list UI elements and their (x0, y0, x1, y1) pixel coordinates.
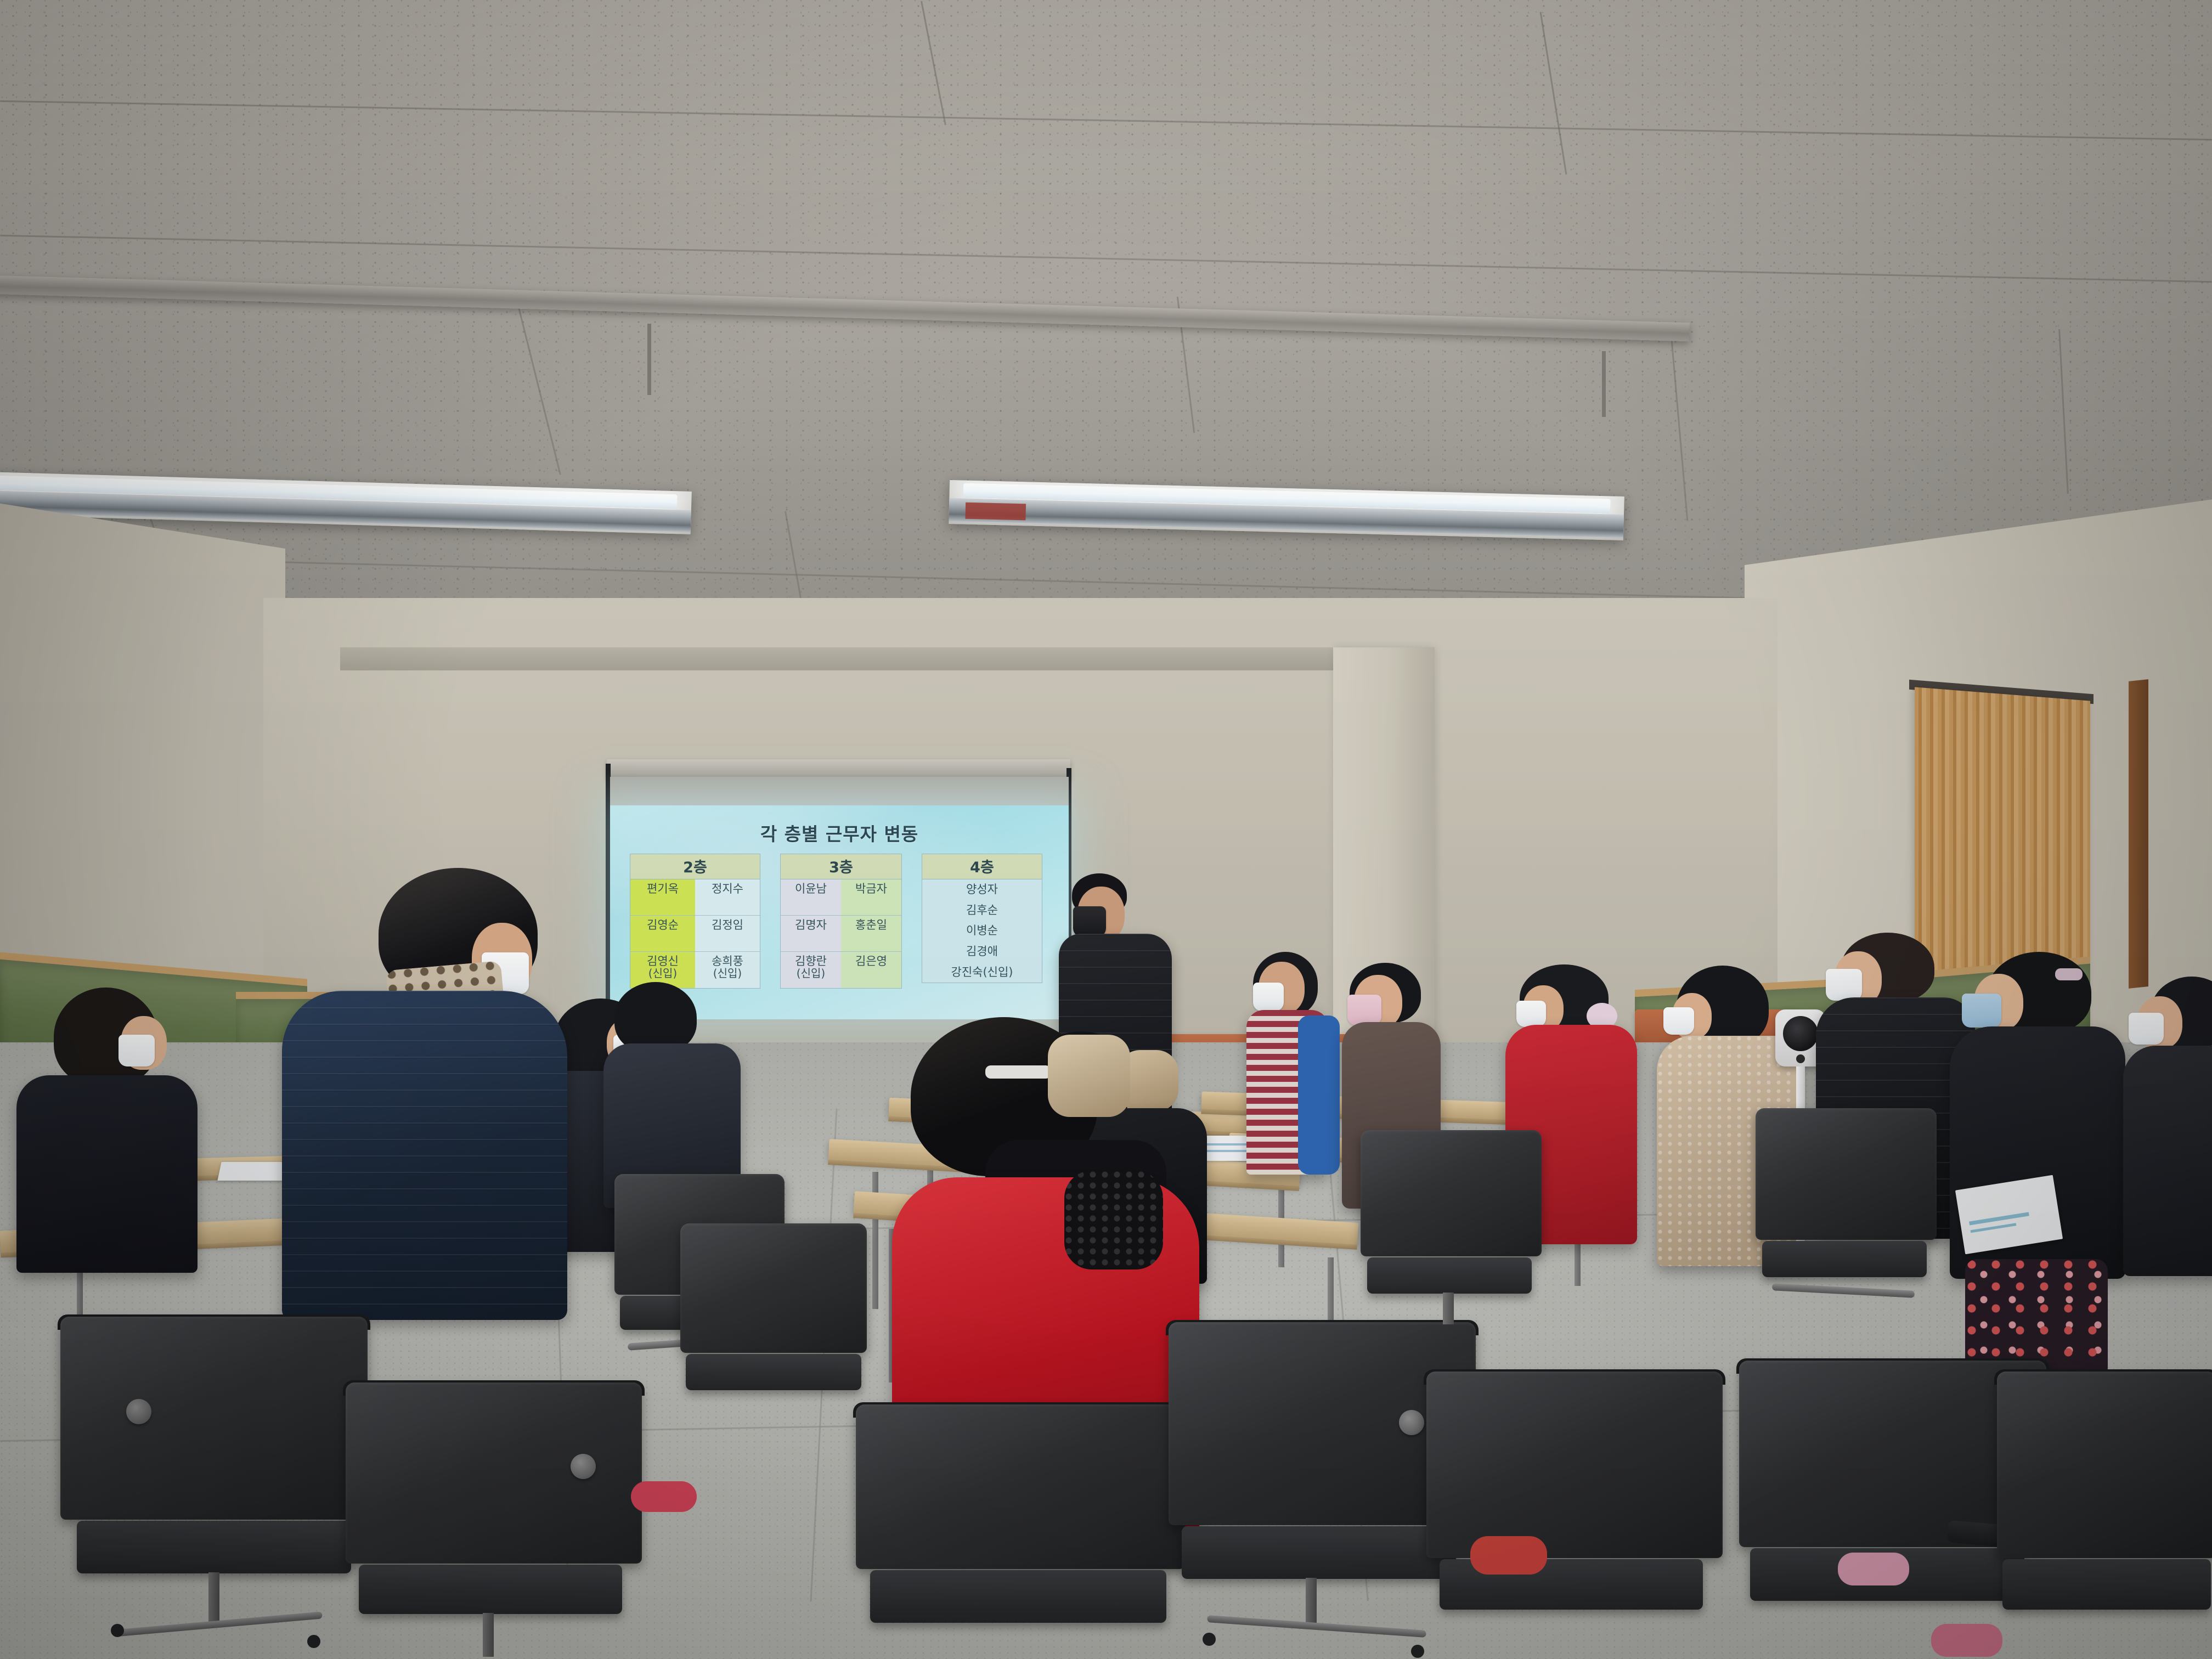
floor-table-subcolumn: 편기옥 김영순 김영신 (신입) (630, 879, 695, 988)
face-mask (1663, 1007, 1694, 1035)
face-mask (119, 1035, 155, 1066)
chair-seat (870, 1570, 1166, 1623)
chair-caster (1411, 1645, 1424, 1658)
chair-back (680, 1223, 867, 1353)
floor-table-2f: 2층 편기옥 김영순 김영신 (신입) 정지수 김정임 송 (630, 854, 760, 989)
shoe (1470, 1536, 1547, 1575)
wall-soffit (340, 647, 1350, 670)
face-mask (1826, 969, 1862, 1001)
chair-caster (307, 1635, 320, 1648)
torso (2123, 1046, 2212, 1276)
vest (1298, 1015, 1340, 1175)
screen-blank-area (610, 777, 1069, 810)
floor-table-4f: 4층 양성자 김후순 이병순 김경애 강진숙(신입) (922, 854, 1042, 983)
face-mask (1073, 906, 1106, 937)
hair (614, 982, 697, 1053)
office-chair[interactable] (856, 1404, 1185, 1659)
office-chair[interactable] (60, 1317, 368, 1659)
table-cell: 김명자 (781, 916, 841, 952)
office-chair[interactable] (680, 1223, 867, 1432)
office-chair[interactable] (1997, 1372, 2212, 1659)
chair-seat (359, 1565, 622, 1614)
chair-adjust-knob[interactable] (126, 1399, 151, 1424)
thermal-scanner-lens (1783, 1016, 1818, 1051)
duct-hanger (647, 324, 651, 395)
chair-seat (1367, 1257, 1532, 1294)
floor-table-subcolumn: 정지수 김정임 송희풍 (신입) (695, 879, 760, 988)
table-cell: 김은영 (841, 952, 901, 988)
shoe (631, 1481, 697, 1512)
face-mask (1347, 995, 1381, 1025)
table-cell-note: (신입) (696, 968, 759, 979)
chair-back (1997, 1372, 2212, 1558)
table-cell-note: (신입) (631, 968, 694, 979)
chair-base (1772, 1283, 1915, 1298)
slide-title: 각 층별 근무자 변동 (610, 820, 1069, 846)
office-chair[interactable] (1756, 1108, 1937, 1317)
office-chair[interactable] (1426, 1372, 1723, 1659)
chair-back (1756, 1108, 1937, 1240)
table-cell-name: 김영신 (647, 955, 679, 968)
chair-seat (1182, 1526, 1456, 1579)
table-cell: 정지수 (695, 879, 760, 916)
booklet-line (1969, 1212, 2029, 1225)
chair-back (346, 1383, 642, 1564)
table-cell-note: (신입) (782, 968, 840, 979)
face-mask (1516, 1001, 1546, 1027)
light-reflection (965, 503, 1026, 521)
meeting-room-photo: 각 층별 근무자 변동 2층 편기옥 김영순 김영신 (신입) 정지수 (0, 0, 2212, 1659)
chair-back (1426, 1372, 1723, 1558)
face-mask (2129, 1013, 2164, 1045)
table-cell-name: 김향란 (795, 955, 827, 968)
hair-clip (985, 1065, 1051, 1079)
chair-back (856, 1404, 1185, 1569)
floor-table-subcolumn: 이윤남 김명자 김향란 (신입) (781, 879, 841, 988)
office-chair[interactable] (1361, 1130, 1542, 1328)
table-cell: 홍춘일 (841, 916, 901, 952)
chair-seat (1762, 1241, 1927, 1277)
shoe (1838, 1553, 1909, 1585)
table-cell: 김정임 (695, 916, 760, 952)
office-chair[interactable] (346, 1383, 642, 1659)
slide-tables: 2층 편기옥 김영순 김영신 (신입) 정지수 김정임 송 (630, 854, 1052, 989)
chair-back (60, 1317, 368, 1520)
chair-post (208, 1572, 219, 1625)
floor-table-body: 편기옥 김영순 김영신 (신입) 정지수 김정임 송희풍 (신입) (630, 879, 760, 988)
shoe (1931, 1624, 2002, 1657)
chair-base (1207, 1615, 1426, 1638)
duct-hanger (1602, 351, 1606, 417)
table-cell: 강진숙(신입) (922, 962, 1042, 983)
hair-clip (2055, 968, 2083, 980)
floor-table-header: 3층 (781, 854, 901, 879)
torso (282, 991, 567, 1320)
quilt-pattern (282, 991, 567, 1320)
face-mask (1253, 983, 1284, 1011)
chair-adjust-knob[interactable] (571, 1454, 596, 1479)
chair-post (1306, 1578, 1317, 1627)
torso (16, 1075, 198, 1273)
door-frame (2129, 679, 2148, 989)
chair-adjust-knob[interactable] (1399, 1410, 1424, 1435)
floor-table-body: 이윤남 김명자 김향란 (신입) 박금자 홍춘일 김은영 (781, 879, 901, 988)
table-cell: 편기옥 (630, 879, 695, 916)
table-cell: 이윤남 (781, 879, 841, 916)
chair-caster (111, 1624, 124, 1637)
table-cell: 김영순 (630, 916, 695, 952)
floor-table-header: 4층 (922, 854, 1042, 879)
projection-screen-housing (607, 759, 1070, 779)
chair-post (1443, 1293, 1454, 1324)
fur-hood-trim (1048, 1035, 1130, 1117)
face-mask (1962, 994, 2001, 1028)
chair-seat (686, 1354, 861, 1390)
table-cell: 김경애 (922, 941, 1042, 962)
table-cell: 김후순 (922, 900, 1042, 921)
thermal-scanner-sensor (1796, 1054, 1805, 1063)
table-cell: 김향란 (신입) (781, 952, 841, 988)
chair-seat (2002, 1559, 2211, 1610)
floor-table-body: 양성자 김후순 이병순 김경애 강진숙(신입) (922, 879, 1042, 983)
floor-table-header: 2층 (630, 854, 760, 879)
table-cell: 양성자 (922, 879, 1042, 900)
floor-table-3f: 3층 이윤남 김명자 김향란 (신입) 박금자 홍춘일 김은영 (780, 854, 902, 989)
chair-post (483, 1613, 494, 1657)
table-cell: 이병순 (922, 921, 1042, 941)
table-cell: 송희풍 (신입) (695, 952, 760, 988)
chair-caster (1203, 1633, 1216, 1646)
table-cell: 박금자 (841, 879, 901, 916)
floor-table-subcolumn: 박금자 홍춘일 김은영 (841, 879, 901, 988)
table-cell-name: 송희풍 (712, 955, 743, 968)
projection-screen[interactable]: 각 층별 근무자 변동 2층 편기옥 김영순 김영신 (신입) 정지수 (610, 805, 1069, 1019)
chair-seat (77, 1521, 351, 1573)
chair-back (1361, 1130, 1542, 1256)
fur-collar (1064, 1171, 1163, 1269)
booklet-line (1971, 1223, 2017, 1233)
